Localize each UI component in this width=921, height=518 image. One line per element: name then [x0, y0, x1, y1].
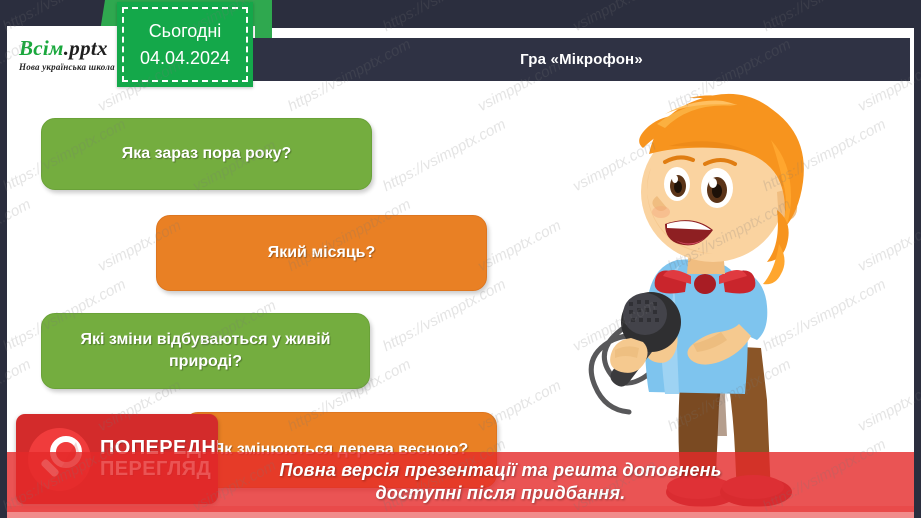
question-bubble-1[interactable]: Яка зараз пора року? — [41, 118, 372, 190]
brand-logo-subtitle: Нова українська школа — [19, 62, 115, 72]
bottom-accent-strip — [7, 506, 914, 518]
today-date-badge: Сьогодні 04.04.2024 — [117, 2, 253, 87]
slide-title-bar: Гра «Мікрофон» — [253, 38, 910, 81]
purchase-notice-banner: Повна версія презентації та решта доповн… — [7, 452, 914, 512]
purchase-notice-line1: Повна версія презентації та решта доповн… — [87, 459, 914, 482]
purchase-notice-line2: доступні після придбання. — [87, 482, 914, 505]
slide-title: Гра «Мікрофон» — [520, 51, 643, 68]
brand-logo-text: Всім.pptx — [19, 38, 108, 59]
slide-viewer: Всім.pptx Нова українська школа Сьогодні… — [0, 0, 921, 518]
today-date: 04.04.2024 — [140, 45, 230, 71]
question-bubble-3[interactable]: Які зміни відбуваються у живій природі? — [41, 313, 370, 389]
purchase-notice-text: Повна версія презентації та решта доповн… — [7, 459, 914, 506]
today-label: Сьогодні — [149, 18, 222, 44]
brand-logo-prefix: Всім — [19, 36, 64, 60]
question-bubble-2[interactable]: Який місяць? — [156, 215, 487, 291]
brand-logo-suffix: .pptx — [64, 36, 108, 60]
